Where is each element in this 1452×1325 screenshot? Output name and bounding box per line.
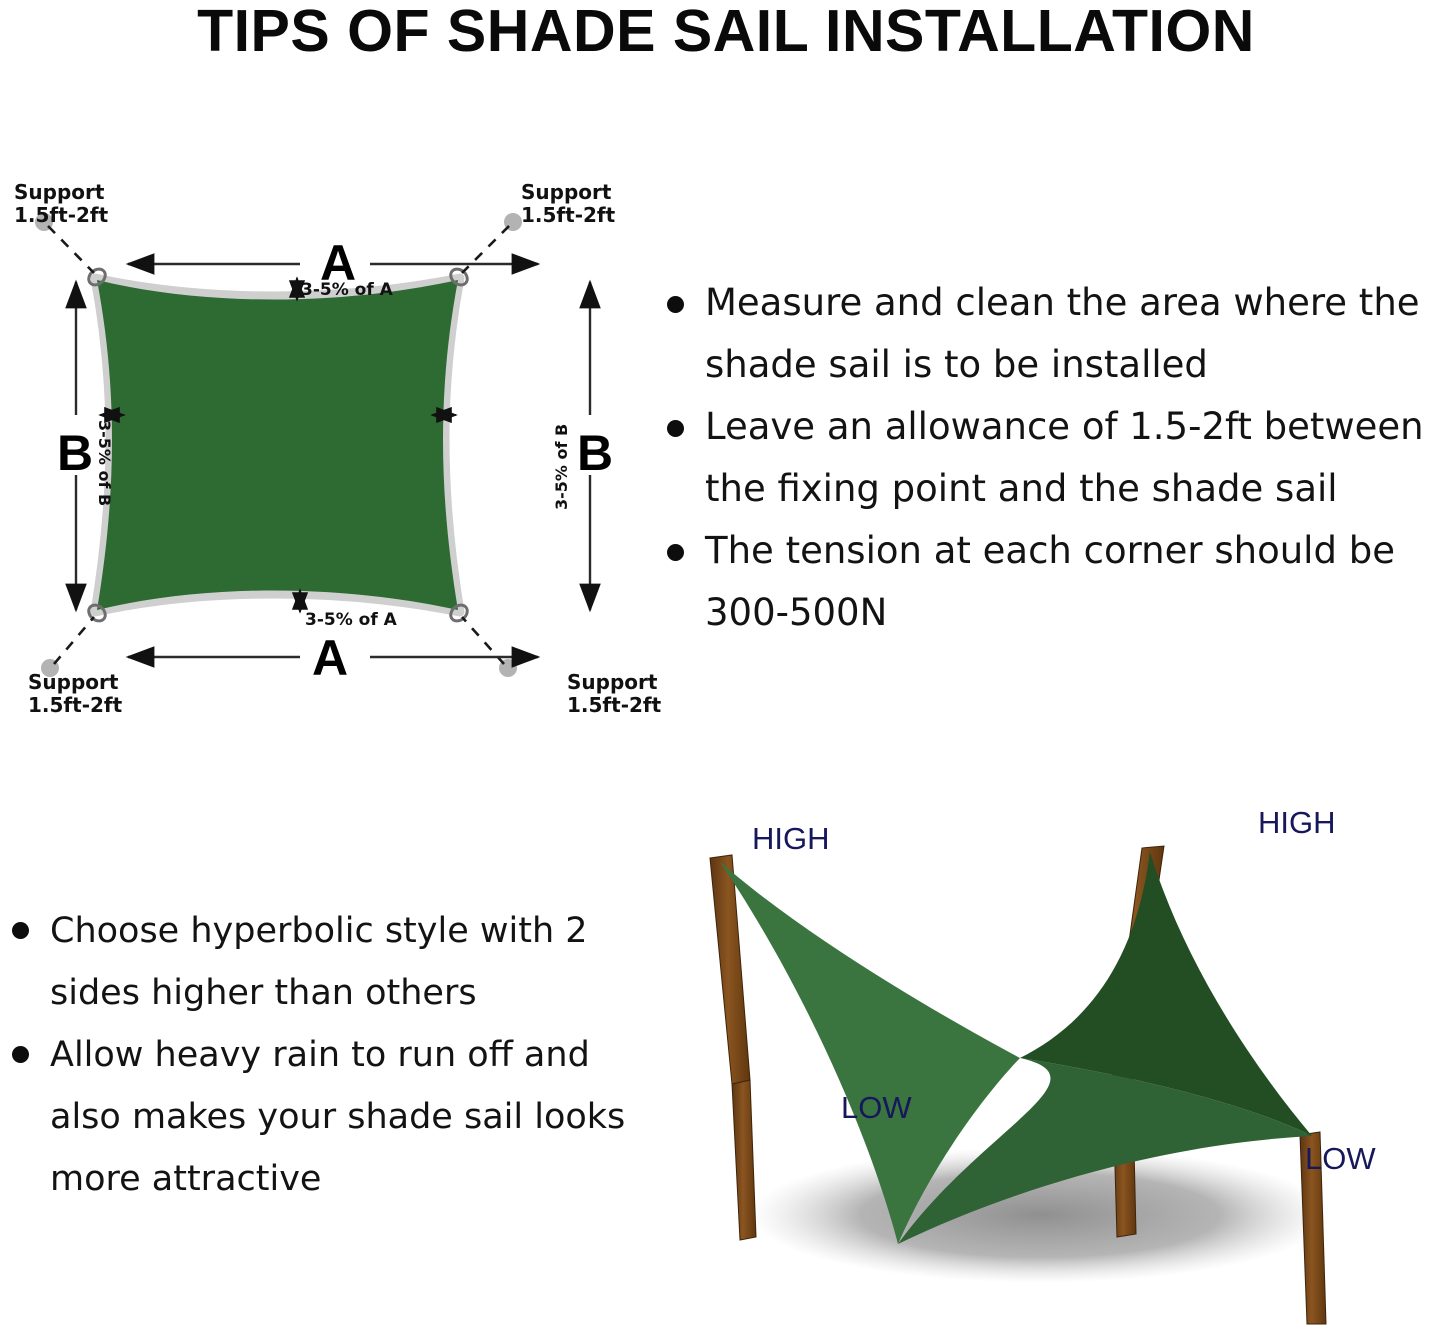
- support-label-top-left: Support 1.5ft-2ft: [14, 181, 108, 227]
- support-label-line1: Support: [521, 180, 611, 204]
- support-label-top-right: Support 1.5ft-2ft: [521, 181, 615, 227]
- curvature-label-right: 3-5% of B: [553, 424, 571, 510]
- bullet-dot-icon: [667, 544, 684, 561]
- bullet-dot-icon: [667, 296, 684, 313]
- support-label-line1: Support: [28, 670, 118, 694]
- installation-tips-list-bottom: Choose hyperbolic style with 2 sides hig…: [0, 900, 640, 1210]
- support-label-line1: Support: [567, 670, 657, 694]
- list-item: Leave an allowance of 1.5-2ft between th…: [655, 396, 1452, 520]
- list-item: Allow heavy rain to run off and also mak…: [0, 1024, 640, 1210]
- label-high-right: HIGH: [1258, 806, 1336, 839]
- list-item-text: Allow heavy rain to run off and also mak…: [50, 1035, 625, 1199]
- label-high-left: HIGH: [752, 822, 830, 855]
- label-low-left: LOW: [841, 1091, 912, 1124]
- list-item-text: The tension at each corner should be 300…: [705, 529, 1395, 634]
- dimension-letter-b-right: B: [577, 428, 613, 478]
- curvature-label-bottom: 3-5% of A: [305, 611, 397, 630]
- support-label-bottom-right: Support 1.5ft-2ft: [567, 671, 661, 717]
- support-label-line2: 1.5ft-2ft: [521, 203, 615, 227]
- list-item-text: Measure and clean the area where the sha…: [705, 281, 1420, 386]
- list-item-text: Choose hyperbolic style with 2 sides hig…: [50, 911, 588, 1013]
- bullet-dot-icon: [12, 922, 29, 939]
- dimension-letter-a-bottom: A: [312, 633, 348, 683]
- pole-low-left: [732, 1080, 756, 1240]
- hyperbolic-sail-diagram: [680, 800, 1452, 1325]
- page-title: TIPS OF SHADE SAIL INSTALLATION: [0, 0, 1452, 62]
- sail-body: [97, 280, 458, 610]
- support-label-line2: 1.5ft-2ft: [567, 693, 661, 717]
- list-item: Choose hyperbolic style with 2 sides hig…: [0, 900, 640, 1024]
- list-item: The tension at each corner should be 300…: [655, 520, 1452, 644]
- curvature-label-top: 3-5% of A: [301, 281, 393, 300]
- support-label-bottom-left: Support 1.5ft-2ft: [28, 671, 122, 717]
- support-label-line2: 1.5ft-2ft: [14, 203, 108, 227]
- installation-tips-list-right: Measure and clean the area where the sha…: [655, 272, 1452, 644]
- support-label-line2: 1.5ft-2ft: [28, 693, 122, 717]
- bullet-dot-icon: [12, 1046, 29, 1063]
- list-item: Measure and clean the area where the sha…: [655, 272, 1452, 396]
- support-label-line1: Support: [14, 180, 104, 204]
- bullet-dot-icon: [667, 420, 684, 437]
- label-low-right: LOW: [1305, 1142, 1376, 1175]
- list-item-text: Leave an allowance of 1.5-2ft between th…: [705, 405, 1424, 510]
- curvature-label-left: 3-5% of B: [95, 420, 113, 506]
- dimension-letter-b-left: B: [57, 428, 93, 478]
